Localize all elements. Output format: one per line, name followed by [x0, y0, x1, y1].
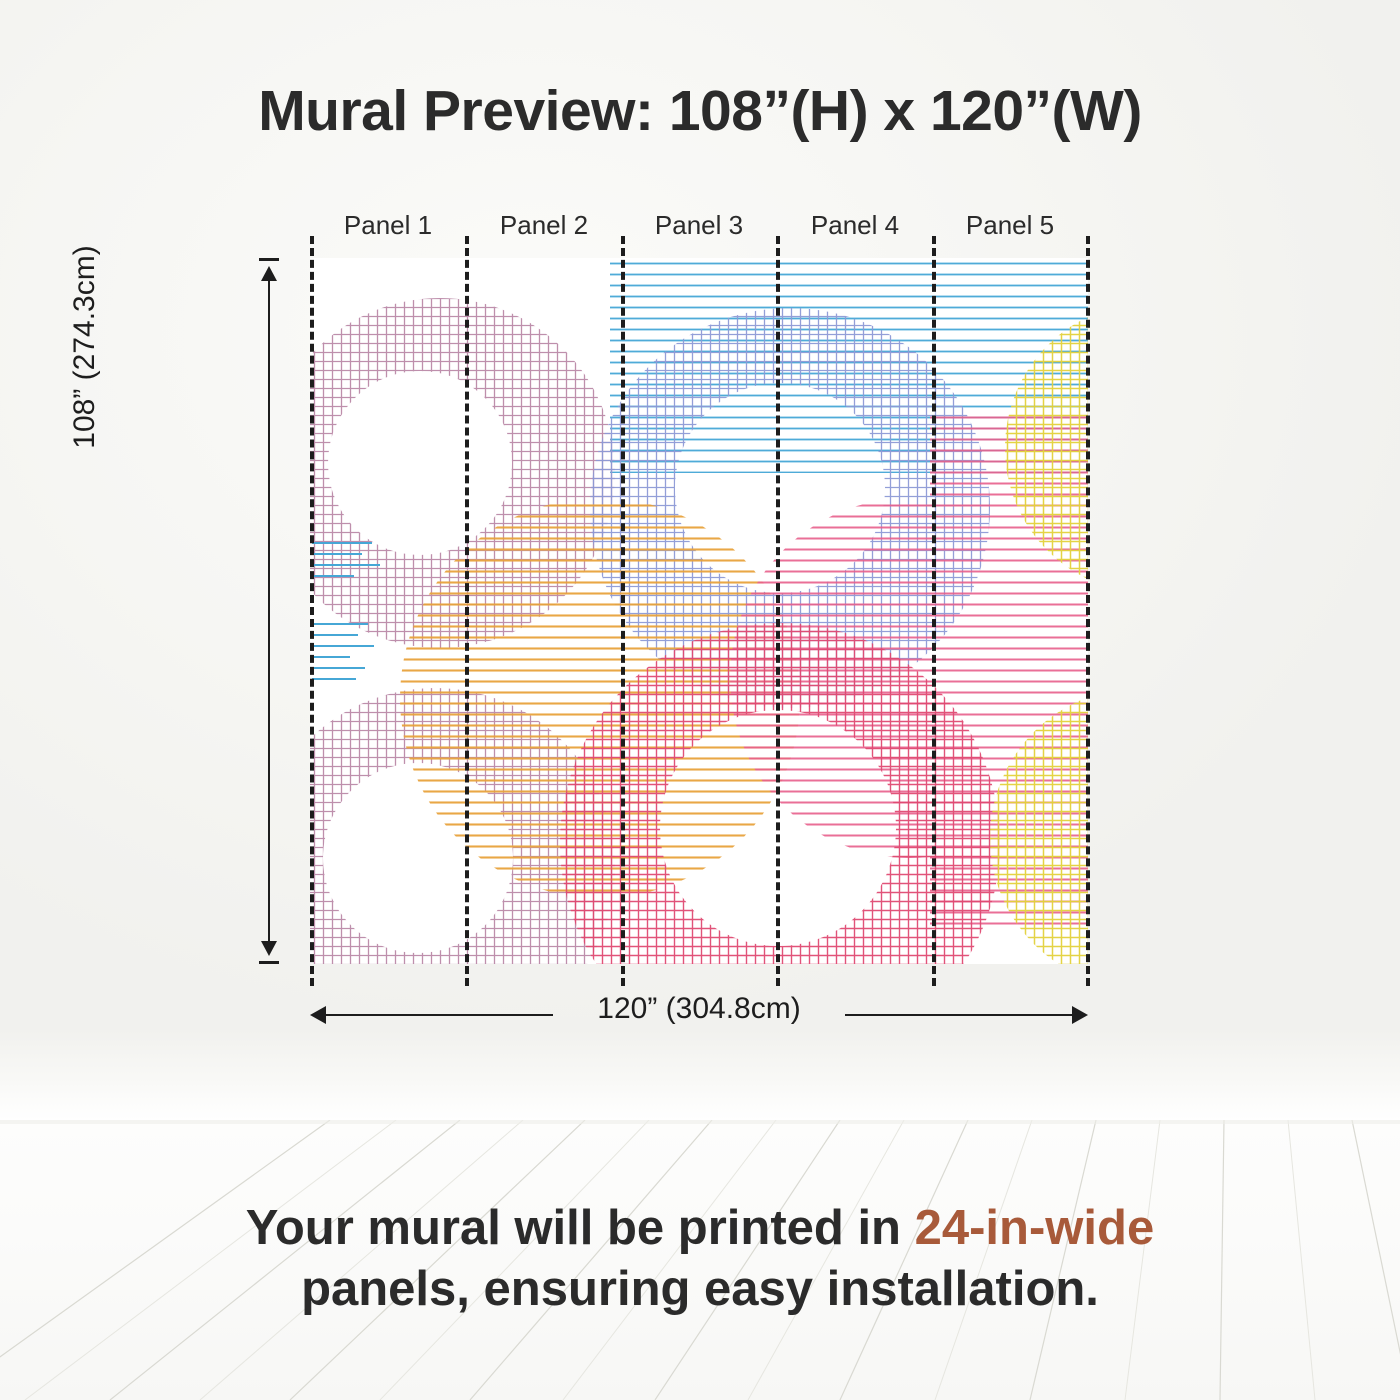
panel-label-4: Panel 4	[777, 210, 933, 241]
caption-line-1: Your mural will be printed in 24-in-wide	[0, 1198, 1400, 1259]
width-dimension-label: 120” (304.8cm)	[310, 992, 1088, 1026]
panel-label-1: Panel 1	[310, 210, 466, 241]
height-dimension-arrow	[258, 258, 280, 964]
mural-artwork	[310, 258, 1088, 964]
height-dimension-label: 108” (274.3cm)	[68, 177, 102, 517]
page-title: Mural Preview: 108”(H) x 120”(W)	[0, 78, 1400, 144]
height-arrowhead-up	[261, 266, 277, 281]
caption-line-2: panels, ensuring easy installation.	[0, 1259, 1400, 1320]
panel-label-3: Panel 3	[621, 210, 777, 241]
height-tick-top	[259, 258, 279, 261]
panel-divider-0	[310, 236, 314, 986]
height-tick-bottom	[259, 961, 279, 964]
panel-divider-2	[621, 236, 625, 986]
caption-prefix: Your mural will be printed in	[246, 1201, 915, 1255]
caption-text: Your mural will be printed in 24-in-wide…	[0, 1198, 1400, 1321]
panel-divider-3	[776, 236, 780, 986]
caption-accent: 24-in-wide	[915, 1201, 1155, 1255]
mural-preview: Panel 1 Panel 2 Panel 3 Panel 4 Panel 5	[310, 258, 1088, 964]
width-dimension-arrow: 120” (304.8cm)	[310, 1002, 1088, 1028]
height-arrow-line	[268, 268, 270, 954]
panel-divider-4	[932, 236, 936, 986]
panel-divider-5	[1086, 236, 1090, 986]
panel-label-5: Panel 5	[932, 210, 1088, 241]
panel-divider-1	[465, 236, 469, 986]
panel-label-2: Panel 2	[466, 210, 622, 241]
height-arrowhead-down	[261, 941, 277, 956]
